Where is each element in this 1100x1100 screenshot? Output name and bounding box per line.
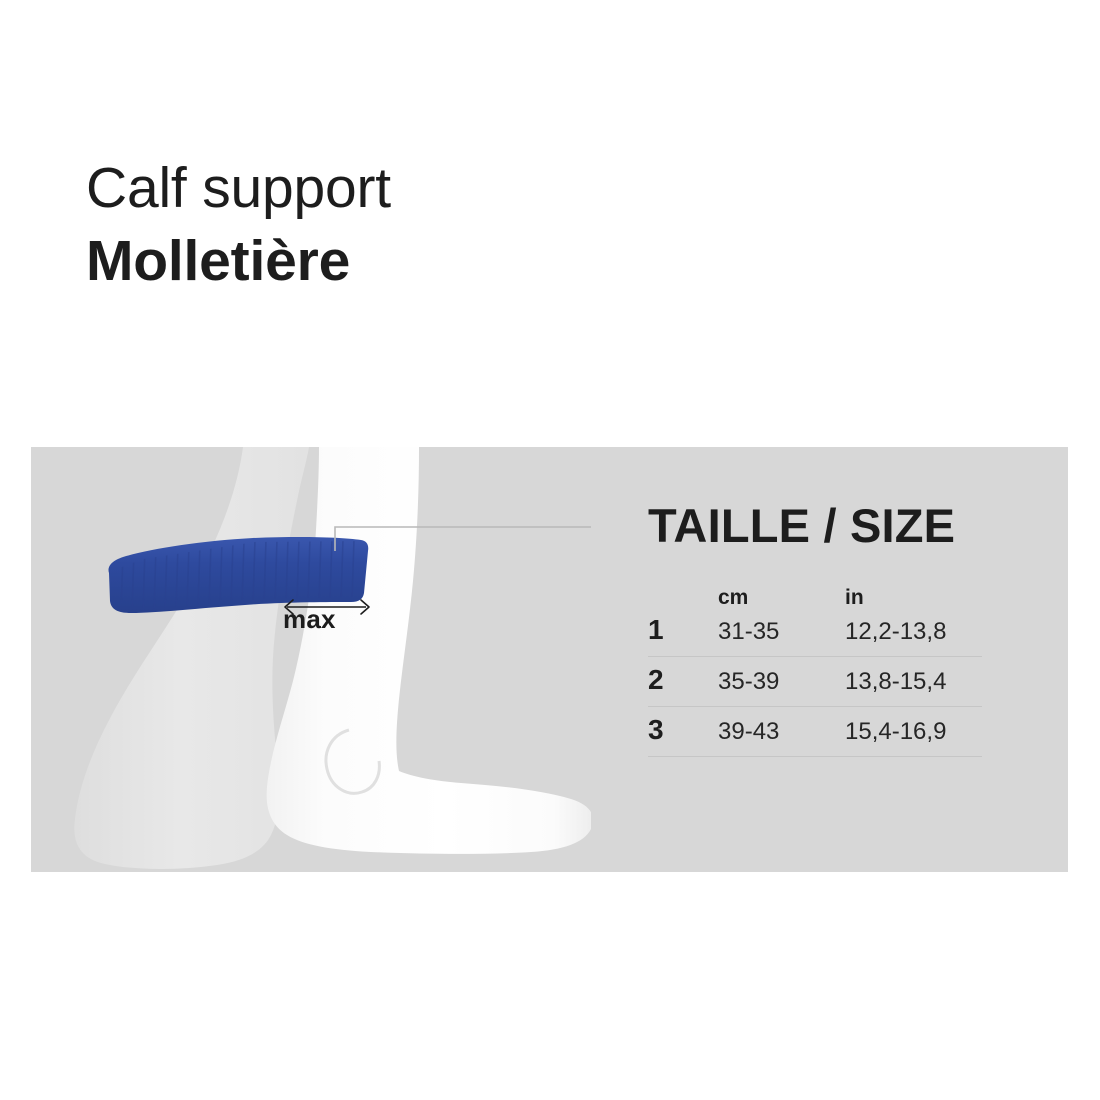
size-number: 2 [648,657,718,707]
size-chart-panel: TAILLE / SIZE cm in 1 31-35 12,2-13,8 [31,447,1068,872]
size-number: 3 [648,707,718,757]
size-in-value: 12,2-13,8 [845,614,982,657]
column-header-in: in [845,586,982,614]
table-row: 3 39-43 15,4-16,9 [648,707,982,757]
column-header-cm: cm [718,586,845,614]
calf-support-illustration [31,447,591,872]
size-measurements-table: cm in 1 31-35 12,2-13,8 2 35-39 13,8-15,… [648,586,982,757]
size-in-value: 15,4-16,9 [845,707,982,757]
size-cm-value: 31-35 [718,614,845,657]
size-table-heading: TAILLE / SIZE [648,500,1048,552]
size-in-value: 13,8-15,4 [845,657,982,707]
size-number: 1 [648,614,718,657]
table-row: 2 35-39 13,8-15,4 [648,657,982,707]
page-title-french: Molletière [86,224,786,298]
max-measurement-label: max [283,604,336,635]
size-cm-value: 35-39 [718,657,845,707]
table-row: 1 31-35 12,2-13,8 [648,614,982,657]
front-leg-and-foot [267,447,591,854]
page-title-english: Calf support [86,152,786,224]
size-cm-value: 39-43 [718,707,845,757]
size-table: TAILLE / SIZE cm in 1 31-35 12,2-13,8 [648,500,1048,757]
table-header-row: cm in [648,586,982,614]
page-title: Calf support Molletière [86,152,786,298]
column-header-size [648,586,718,614]
